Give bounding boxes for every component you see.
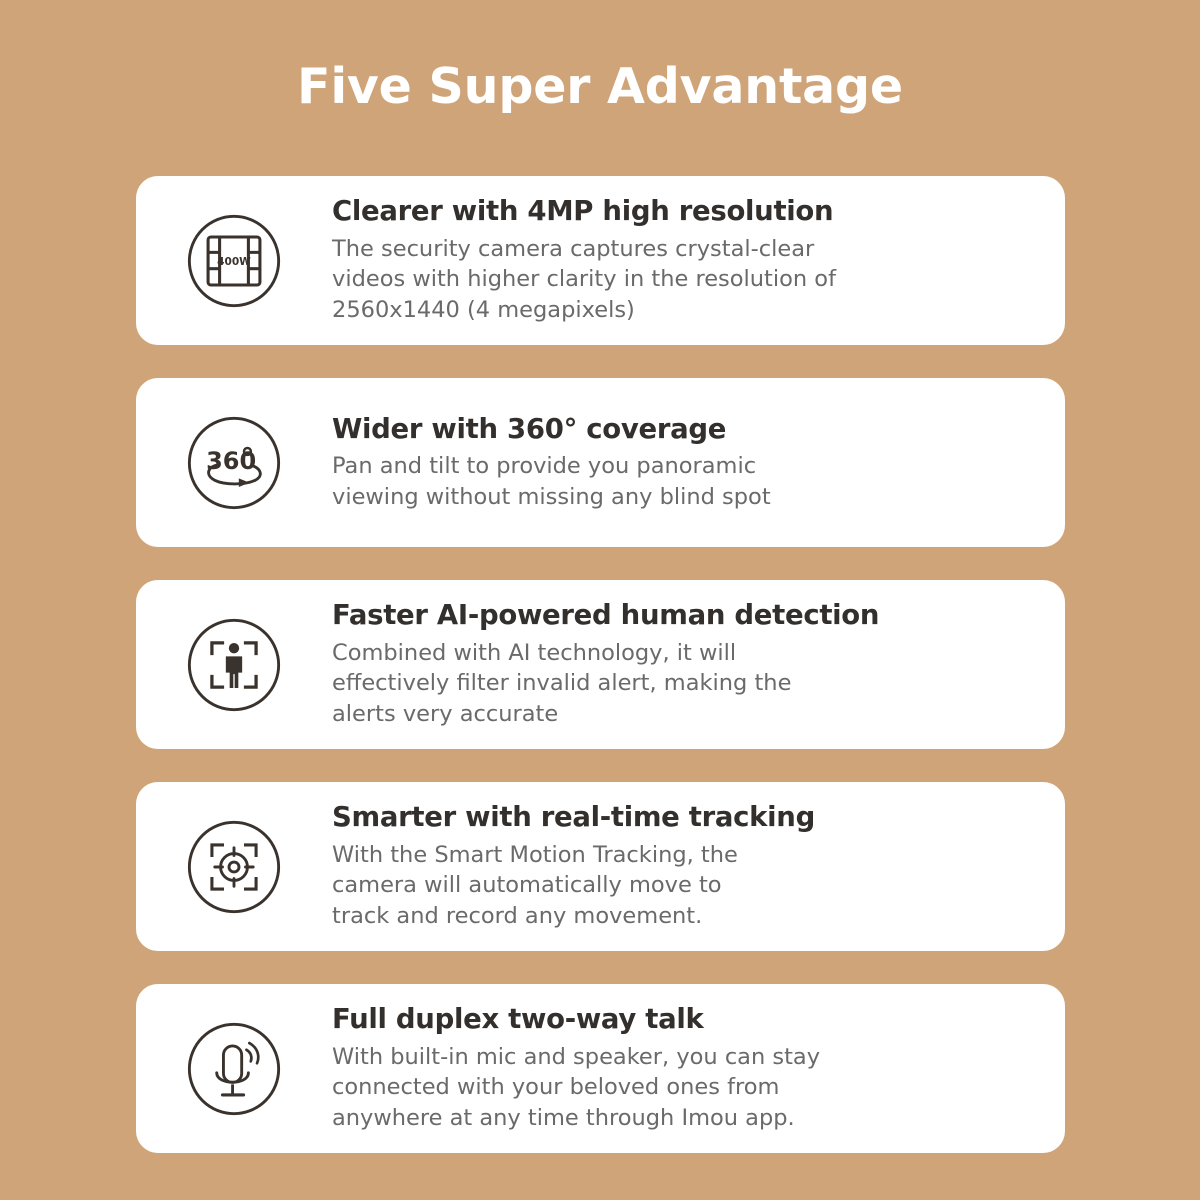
page-title: Five Super Advantage	[0, 60, 1200, 114]
card-text-block: Clearer with 4MP high resolution The sec…	[332, 195, 1045, 325]
card-body: With built-in mic and speaker, you can s…	[332, 1042, 1039, 1134]
card-body-line: videos with higher clarity in the resolu…	[332, 264, 1039, 295]
card-heading: Full duplex two-way talk	[332, 1003, 1039, 1035]
icon-container: 360	[136, 378, 332, 547]
card-body-line: 2560x1440 (4 megapixels)	[332, 295, 1039, 326]
microphone-two-way-talk-icon	[186, 1021, 282, 1117]
card-body: With the Smart Motion Tracking, the came…	[332, 840, 1039, 932]
rotation-360-icon: 360	[186, 415, 282, 511]
card-heading: Wider with 360° coverage	[332, 413, 1039, 445]
card-text-block: Wider with 360° coverage Pan and tilt to…	[332, 413, 1045, 513]
card-body: The security camera captures crystal-cle…	[332, 234, 1039, 326]
icon-container	[136, 984, 332, 1153]
card-body-line: The security camera captures crystal-cle…	[332, 234, 1039, 265]
card-body-line: alerts very accurate	[332, 699, 1039, 730]
resolution-4mp-icon: 400W	[186, 213, 282, 309]
advantages-infographic: Five Super Advantage 400W Clearer with 4	[0, 0, 1200, 1200]
icon-container	[136, 782, 332, 951]
human-detection-icon	[186, 617, 282, 713]
advantage-card-list: 400W Clearer with 4MP high resolution Th…	[136, 176, 1065, 1153]
advantage-card: Faster AI-powered human detection Combin…	[136, 580, 1065, 749]
icon-container	[136, 580, 332, 749]
card-text-block: Full duplex two-way talk With built-in m…	[332, 1003, 1045, 1133]
card-body-line: anywhere at any time through Imou app.	[332, 1103, 1039, 1134]
card-heading: Faster AI-powered human detection	[332, 599, 1039, 631]
card-body: Combined with AI technology, it will eff…	[332, 638, 1039, 730]
motion-tracking-target-icon	[186, 819, 282, 915]
card-body-line: connected with your beloved ones from	[332, 1072, 1039, 1103]
card-body-line: viewing without missing any blind spot	[332, 482, 1039, 513]
advantage-card: Full duplex two-way talk With built-in m…	[136, 984, 1065, 1153]
advantage-card: 400W Clearer with 4MP high resolution Th…	[136, 176, 1065, 345]
card-body-line: Pan and tilt to provide you panoramic	[332, 451, 1039, 482]
card-heading: Smarter with real-time tracking	[332, 801, 1039, 833]
card-body: Pan and tilt to provide you panoramic vi…	[332, 451, 1039, 512]
card-body-line: track and record any movement.	[332, 901, 1039, 932]
icon-container: 400W	[136, 176, 332, 345]
card-body-line: With the Smart Motion Tracking, the	[332, 840, 1039, 871]
card-body-line: effectively filter invalid alert, making…	[332, 668, 1039, 699]
card-body-line: With built-in mic and speaker, you can s…	[332, 1042, 1039, 1073]
card-body-line: Combined with AI technology, it will	[332, 638, 1039, 669]
advantage-card: Smarter with real-time tracking With the…	[136, 782, 1065, 951]
card-text-block: Faster AI-powered human detection Combin…	[332, 599, 1045, 729]
icon-label-400w: 400W	[217, 255, 251, 267]
card-text-block: Smarter with real-time tracking With the…	[332, 801, 1045, 931]
icon-label-360: 360	[206, 446, 256, 474]
card-body-line: camera will automatically move to	[332, 870, 1039, 901]
advantage-card: 360 Wider with 360° coverage Pan and til…	[136, 378, 1065, 547]
card-heading: Clearer with 4MP high resolution	[332, 195, 1039, 227]
